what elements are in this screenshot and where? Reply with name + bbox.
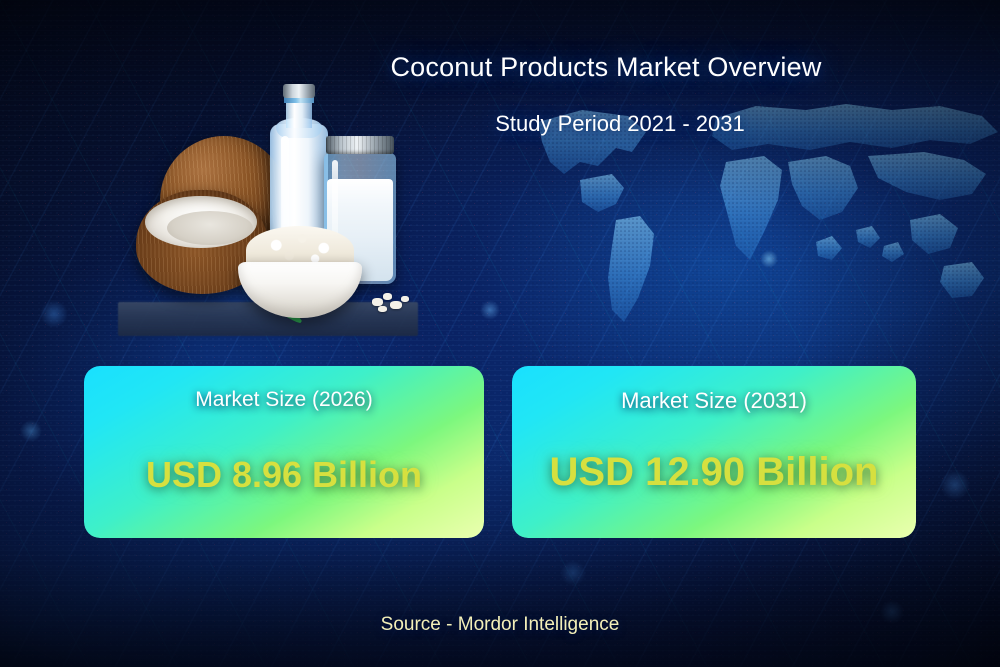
bokeh-glow: [940, 470, 970, 500]
page-title: Coconut Products Market Overview: [0, 52, 1000, 83]
bokeh-glow: [20, 420, 42, 442]
scattered-coconut-flakes: [370, 290, 414, 316]
jar-lid-ribs: [326, 136, 394, 154]
source-attribution: Source - Mordor Intelligence: [0, 614, 1000, 636]
card-value: USD 8.96 Billion: [84, 454, 484, 496]
bokeh-glow: [560, 560, 586, 586]
market-size-2026-card: Market Size (2026) USD 8.96 Billion: [84, 366, 484, 538]
market-size-2031-card: Market Size (2031) USD 12.90 Billion: [512, 366, 916, 538]
flake-crumb: [390, 301, 402, 309]
card-label: Market Size (2031): [512, 388, 916, 414]
flake-crumb: [401, 296, 409, 302]
bokeh-glow: [480, 300, 500, 320]
card-value: USD 12.90 Billion: [512, 450, 916, 495]
jar-lid: [326, 136, 394, 154]
infographic-canvas: Coconut Products Market Overview Study P…: [0, 0, 1000, 667]
study-period-label: Study Period 2021 - 2031: [0, 111, 1000, 137]
flake-crumb: [383, 293, 392, 300]
card-label: Market Size (2026): [84, 388, 484, 412]
flake-crumb: [372, 298, 383, 306]
bowl-cup: [238, 262, 362, 318]
bokeh-glow: [40, 300, 68, 328]
bowl-of-coconut-flakes: [238, 226, 362, 318]
flake-crumb: [378, 306, 387, 312]
bottle-cap: [283, 84, 315, 98]
